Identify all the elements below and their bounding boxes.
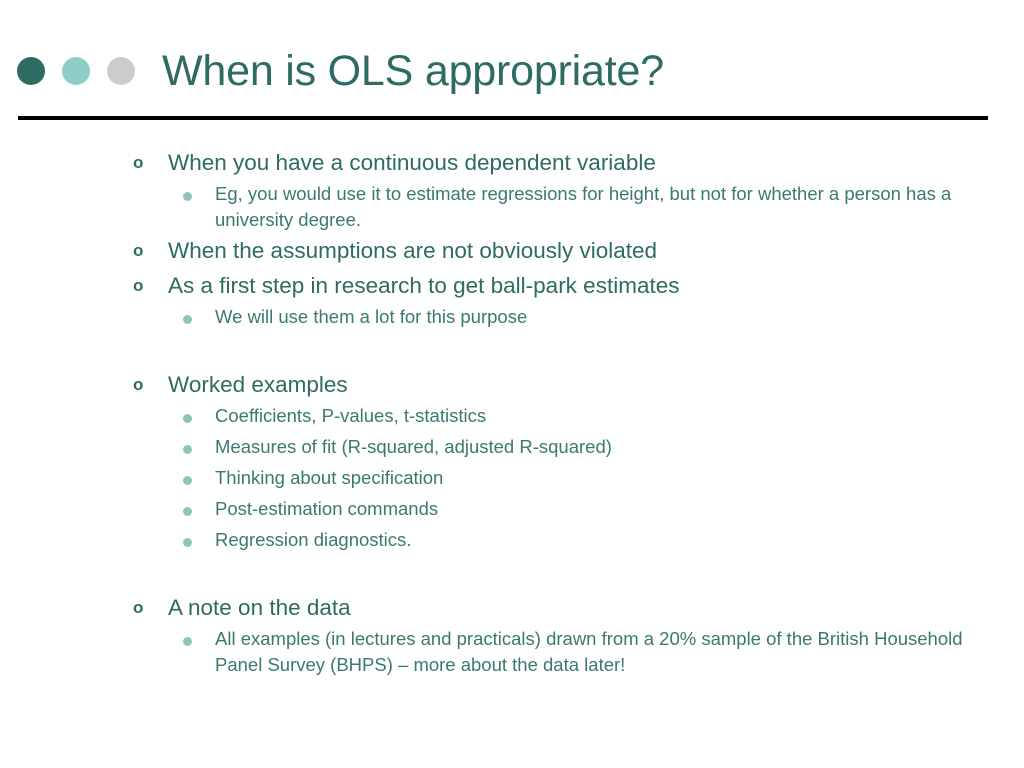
blank-line [0, 558, 1024, 591]
bullet-text: A note on the data [168, 591, 351, 624]
bullet-text: All examples (in lectures and practicals… [215, 626, 971, 678]
bullet-text: Worked examples [168, 368, 348, 401]
bullet-marker-circle-outline-icon: o [133, 234, 168, 267]
bullet-item-level2: Regression diagnostics. [0, 527, 1024, 557]
bullet-marker-dot-icon [183, 304, 215, 334]
slide-title-row: When is OLS appropriate? [0, 40, 1024, 102]
bullet-dot-icon [183, 192, 192, 201]
bullet-text: We will use them a lot for this purpose [215, 304, 527, 330]
bullet-item-level2: Coefficients, P-values, t-statistics [0, 403, 1024, 433]
bullet-item-level1: oWhen the assumptions are not obviously … [0, 234, 1024, 267]
bullet-marker-dot-icon [183, 626, 215, 656]
bullet-marker-dot-icon [183, 496, 215, 526]
slide: When is OLS appropriate? oWhen you have … [0, 0, 1024, 768]
bullet-dot-icon [183, 315, 192, 324]
bullet-text: Coefficients, P-values, t-statistics [215, 403, 486, 429]
bullet-text: As a first step in research to get ball-… [168, 269, 679, 302]
bullet-text: When you have a continuous dependent var… [168, 146, 656, 179]
bullet-marker-dot-icon [183, 465, 215, 495]
title-decoration-dots [17, 57, 135, 85]
bullet-dot-icon [183, 476, 192, 485]
bullet-dot-icon [183, 414, 192, 423]
bullet-text: When the assumptions are not obviously v… [168, 234, 657, 267]
bullet-marker-circle-outline-icon: o [133, 146, 168, 179]
dot-light-teal-icon [62, 57, 90, 85]
bullet-text: Post-estimation commands [215, 496, 438, 522]
bullet-item-level2: Post-estimation commands [0, 496, 1024, 526]
bullet-marker-circle-outline-icon: o [133, 269, 168, 302]
bullet-item-level2: Thinking about specification [0, 465, 1024, 495]
slide-body: oWhen you have a continuous dependent va… [0, 146, 1024, 679]
bullet-dot-icon [183, 538, 192, 547]
bullet-item-level2: Eg, you would use it to estimate regress… [0, 181, 1024, 233]
bullet-text: Regression diagnostics. [215, 527, 411, 553]
bullet-item-level1: oWhen you have a continuous dependent va… [0, 146, 1024, 179]
bullet-dot-icon [183, 507, 192, 516]
bullet-item-level2: We will use them a lot for this purpose [0, 304, 1024, 334]
bullet-marker-dot-icon [183, 527, 215, 557]
bullet-item-level1: oAs a first step in research to get ball… [0, 269, 1024, 302]
bullet-dot-icon [183, 637, 192, 646]
bullet-text: Eg, you would use it to estimate regress… [215, 181, 971, 233]
bullet-marker-dot-icon [183, 403, 215, 433]
bullet-text: Thinking about specification [215, 465, 443, 491]
page-title: When is OLS appropriate? [162, 50, 664, 93]
dot-gray-icon [107, 57, 135, 85]
blank-line [0, 335, 1024, 368]
bullet-marker-circle-outline-icon: o [133, 368, 168, 401]
bullet-item-level1: oWorked examples [0, 368, 1024, 401]
bullet-item-level1: oA note on the data [0, 591, 1024, 624]
bullet-marker-circle-outline-icon: o [133, 591, 168, 624]
bullet-marker-dot-icon [183, 434, 215, 464]
bullet-text: Measures of fit (R-squared, adjusted R-s… [215, 434, 612, 460]
bullet-dot-icon [183, 445, 192, 454]
title-divider [18, 116, 988, 120]
bullet-item-level2: All examples (in lectures and practicals… [0, 626, 1024, 678]
dot-dark-teal-icon [17, 57, 45, 85]
bullet-marker-dot-icon [183, 181, 215, 211]
bullet-item-level2: Measures of fit (R-squared, adjusted R-s… [0, 434, 1024, 464]
